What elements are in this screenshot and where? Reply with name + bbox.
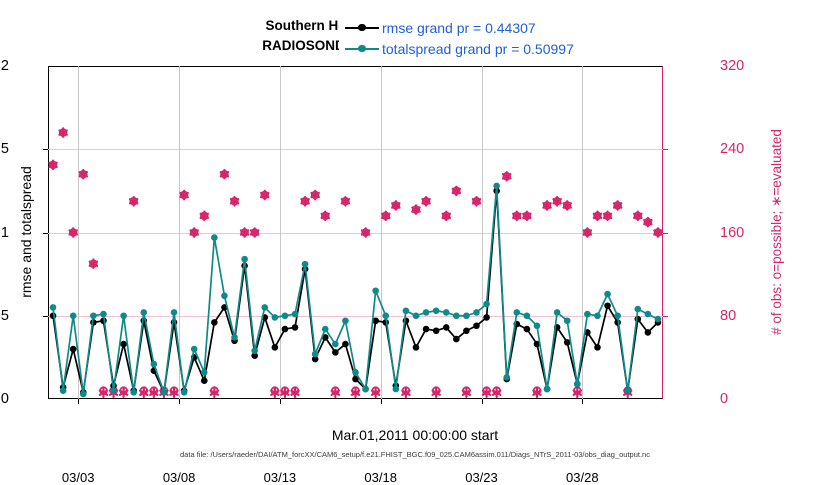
x-tick-mark	[78, 399, 79, 404]
y-axis-left-label: rmse and totalspread	[18, 166, 34, 298]
x-tick-mark	[179, 399, 180, 404]
series-point	[272, 344, 279, 351]
series-line	[53, 186, 658, 394]
series-point	[393, 386, 400, 393]
series-point	[282, 326, 289, 333]
series-point	[211, 234, 218, 241]
series-rmse	[50, 188, 662, 396]
series-point	[594, 312, 601, 319]
series-point	[604, 291, 611, 298]
series-point	[312, 351, 319, 358]
series-point	[362, 386, 369, 393]
series-point	[130, 389, 137, 396]
y-tick-label-left: 0.5	[0, 308, 9, 324]
series-point	[413, 344, 420, 351]
series-point	[423, 326, 430, 333]
series-point	[372, 287, 379, 294]
series-point	[524, 312, 531, 319]
series-point	[251, 347, 258, 354]
series-point	[453, 312, 460, 319]
y-tick-label-right: 320	[720, 58, 744, 74]
series-point	[201, 369, 208, 376]
series-point	[302, 261, 309, 268]
series-point	[483, 314, 490, 321]
series-totalspread	[50, 183, 662, 398]
series-point	[443, 324, 450, 331]
y-tick-label-left: 1	[1, 225, 9, 241]
x-tick-label: 03/28	[566, 470, 599, 485]
y-tick-label-right: 80	[720, 308, 736, 324]
x-tick-label: 03/18	[364, 470, 397, 485]
series-point	[292, 311, 299, 318]
series-point	[161, 389, 168, 396]
series-point	[453, 336, 460, 343]
series-point	[181, 389, 188, 396]
series-point	[554, 309, 561, 316]
series-point	[443, 309, 450, 316]
series-point	[544, 386, 551, 393]
series-point	[292, 324, 299, 331]
series-point	[342, 317, 349, 324]
series-point	[322, 326, 329, 333]
x-tick-label: 03/13	[264, 470, 297, 485]
y-tick-label-right: 240	[720, 141, 744, 157]
y-tick-label-left: 0	[1, 391, 9, 407]
series-point	[110, 387, 117, 394]
series-point	[231, 334, 238, 341]
series-point	[624, 387, 631, 394]
y-axis-right-label: # of obs: o=possible; ∗=evaluated	[769, 129, 785, 335]
legend-marker-rmse-icon	[345, 22, 379, 34]
chart-legend: rmse grand pr = 0.44307 totalspread gran…	[339, 14, 609, 63]
x-tick-label: 03/23	[465, 470, 498, 485]
y-tick-label-left: 1.5	[0, 141, 9, 157]
series-point	[645, 311, 652, 318]
series-point	[332, 341, 339, 348]
series-point	[171, 309, 178, 316]
series-point	[80, 391, 87, 398]
x-tick-mark	[482, 399, 483, 404]
series-point	[463, 327, 470, 334]
legend-item-rmse: rmse grand pr = 0.44307	[345, 17, 603, 38]
series-point	[433, 307, 440, 314]
series-point	[514, 309, 521, 316]
data-series-layer	[48, 66, 663, 399]
series-point	[332, 349, 339, 356]
series-point	[120, 312, 127, 319]
series-point	[282, 312, 289, 319]
series-point	[423, 309, 430, 316]
y-tick-mark-right	[663, 316, 668, 317]
series-point	[60, 387, 67, 394]
data-file-footer: data file: /Users/raeder/DAI/ATM_forcXX/…	[0, 450, 830, 459]
series-point	[564, 317, 571, 324]
series-point	[211, 319, 218, 326]
series-point	[503, 374, 510, 381]
series-point	[221, 292, 228, 299]
obs-series-evaluated	[49, 128, 661, 397]
series-line	[53, 191, 658, 392]
legend-label-rmse: rmse grand pr = 0.44307	[382, 20, 536, 36]
series-point	[635, 306, 642, 313]
series-point	[534, 322, 541, 329]
series-point	[100, 311, 107, 318]
series-point	[241, 256, 248, 263]
series-point	[382, 312, 389, 319]
series-point	[413, 312, 420, 319]
series-point	[403, 307, 410, 314]
series-point	[524, 326, 531, 333]
plot-area: 00.511.52 080160240320 03/0303/0803/1303…	[48, 66, 663, 399]
series-point	[584, 311, 591, 318]
series-point	[191, 346, 198, 353]
x-tick-mark	[381, 399, 382, 404]
series-point	[473, 322, 480, 329]
series-point	[604, 302, 611, 309]
legend-marker-totalspread-icon	[345, 43, 379, 55]
series-point	[493, 183, 500, 190]
series-point	[272, 314, 279, 321]
series-point	[70, 346, 77, 353]
x-tick-label: 03/03	[62, 470, 95, 485]
series-point	[655, 316, 662, 323]
x-tick-label: 03/08	[163, 470, 196, 485]
series-point	[151, 361, 158, 368]
x-tick-mark	[280, 399, 281, 404]
y-tick-label-left: 2	[1, 58, 9, 74]
series-point	[201, 377, 208, 384]
series-point	[463, 312, 470, 319]
series-point	[645, 329, 652, 336]
series-point	[120, 341, 127, 348]
legend-label-totalspread: totalspread grand pr = 0.50997	[382, 41, 574, 57]
y-tick-mark-right	[663, 149, 668, 150]
series-point	[483, 301, 490, 308]
series-point	[352, 369, 359, 376]
series-point	[594, 344, 601, 351]
series-point	[261, 304, 268, 311]
series-point	[90, 312, 97, 319]
series-point	[614, 312, 621, 319]
series-point	[574, 381, 581, 388]
series-point	[140, 309, 147, 316]
legend-item-totalspread: totalspread grand pr = 0.50997	[345, 38, 603, 59]
y-tick-mark-right	[663, 233, 668, 234]
series-point	[70, 312, 77, 319]
series-point	[342, 341, 349, 348]
x-tick-mark	[582, 399, 583, 404]
series-point	[433, 327, 440, 334]
y-tick-label-right: 0	[720, 391, 728, 407]
y-tick-label-right: 160	[720, 225, 744, 241]
x-axis-label: Mar.01,2011 00:00:00 start	[0, 427, 830, 443]
series-point	[50, 304, 57, 311]
series-point	[473, 309, 480, 316]
figure-canvas: Southern Hemisphere 10480 / 10523 = 99.5…	[0, 0, 830, 470]
